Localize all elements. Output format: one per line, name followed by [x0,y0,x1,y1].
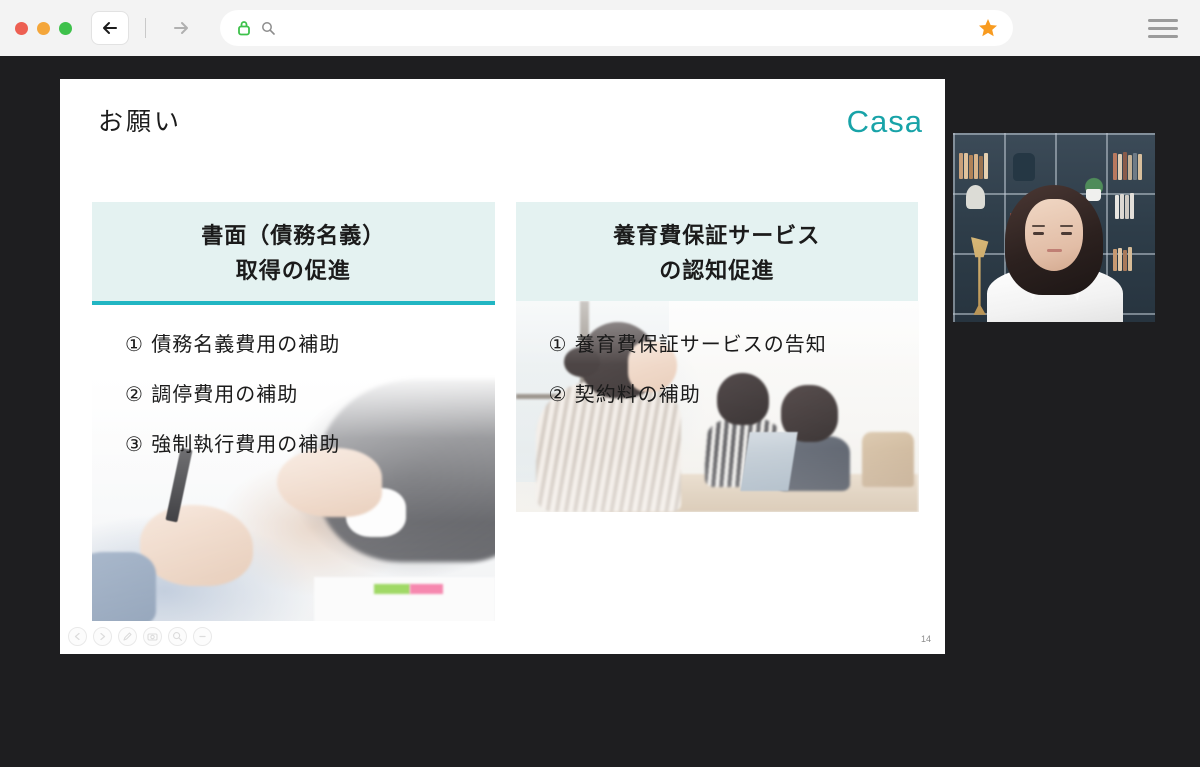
camera-icon [147,631,158,642]
minimize-window-button[interactable] [37,22,50,35]
list-item: ② 調停費用の補助 [125,378,495,407]
list-item: ③ 強制執行費用の補助 [125,428,495,457]
annotate-pen-button[interactable] [118,627,137,646]
book-shape [974,154,978,179]
search-icon [261,21,275,35]
decor-bust [966,185,985,209]
list-item: ① 養育費保証サービスの告知 [549,328,919,357]
column-heading-line: 書面（債務名義） [201,218,385,250]
presentation-slide[interactable]: お願い Casa 書面（債務名義） 取得の促進 ① 債務名義費用 [60,79,945,654]
casa-logo: Casa [847,104,923,140]
menu-line [1148,27,1178,30]
presenter-eye [1061,232,1072,235]
slide-toolbar [68,627,212,646]
presenter-eyebrow [1032,225,1045,227]
zoom-button[interactable] [168,627,187,646]
slide-column-left: 書面（債務名義） 取得の促進 ① 債務名義費用の補助 ② 調停費用の補助 ③ 強… [92,202,495,478]
minimize-toolbar-button[interactable] [193,627,212,646]
decor-vase [1013,153,1035,181]
book-shape [1123,250,1127,271]
chevron-right-icon [98,632,107,641]
list-item: ② 契約料の補助 [549,378,919,407]
menu-line [1148,19,1178,22]
book-shape [1128,247,1132,271]
next-slide-button[interactable] [93,627,112,646]
secure-lock-icon [237,20,251,36]
arrow-right-icon [171,18,191,38]
screenshot-button[interactable] [143,627,162,646]
previous-slide-button[interactable] [68,627,87,646]
book-shape [969,155,973,179]
forward-button[interactable] [163,12,199,44]
presenter-face [1025,199,1083,271]
browser-toolbar [0,0,1200,56]
column-heading-box: 養育費保証サービス の認知促進 [516,202,919,305]
hamburger-menu-icon[interactable] [1148,15,1178,41]
book-shape [1125,195,1129,219]
bookmark-star-icon[interactable] [977,17,999,39]
slide-title: お願い [98,102,182,138]
close-window-button[interactable] [15,22,28,35]
slide-columns: 書面（債務名義） 取得の促進 ① 債務名義費用の補助 ② 調停費用の補助 ③ 強… [92,202,918,478]
maximize-window-button[interactable] [59,22,72,35]
book-shape [1118,248,1122,271]
column-bullet-list: ① 債務名義費用の補助 ② 調停費用の補助 ③ 強制執行費用の補助 [92,328,495,457]
chevron-left-icon [73,632,82,641]
column-heading-line: の認知促進 [659,253,774,285]
book-shape [1113,249,1117,271]
book-shape [1128,155,1132,180]
address-input[interactable] [283,21,977,36]
book-shape [1133,153,1137,180]
address-bar[interactable] [220,10,1013,46]
book-shape [979,156,983,179]
presenter-eye [1033,232,1044,235]
book-shape [1120,194,1124,219]
column-heading-line: 取得の促進 [236,253,351,285]
book-shape [964,153,968,179]
book-shape [984,153,988,179]
book-shape [1138,154,1142,180]
book-shape [1113,153,1117,180]
magnifier-icon [172,631,183,642]
presenter-video-thumbnail[interactable] [953,133,1155,322]
menu-line [1148,35,1178,38]
column-heading-box: 書面（債務名義） 取得の促進 [92,202,495,305]
column-heading-line: 養育費保証サービス [613,218,820,250]
minus-icon [197,631,208,642]
book-shape [959,153,963,179]
toolbar-divider [145,18,146,38]
book-shape [1118,154,1122,180]
presenter-eyebrow [1060,225,1073,227]
navigation-buttons [92,12,199,44]
slide-page-number: 14 [921,634,931,644]
presenter-mouth [1047,249,1062,252]
back-button[interactable] [92,12,128,44]
arrow-left-icon [100,18,120,38]
book-shape [1115,195,1119,219]
pen-icon [122,631,133,642]
column-bullet-list: ① 養育費保証サービスの告知 ② 契約料の補助 [516,328,919,407]
list-item: ① 債務名義費用の補助 [125,328,495,357]
slide-column-right: 養育費保証サービス の認知促進 ① 養 [516,202,919,478]
book-shape [1130,193,1134,219]
window-traffic-lights [15,22,72,35]
book-shape [1123,152,1127,180]
decor-plant-pot [1086,189,1101,201]
